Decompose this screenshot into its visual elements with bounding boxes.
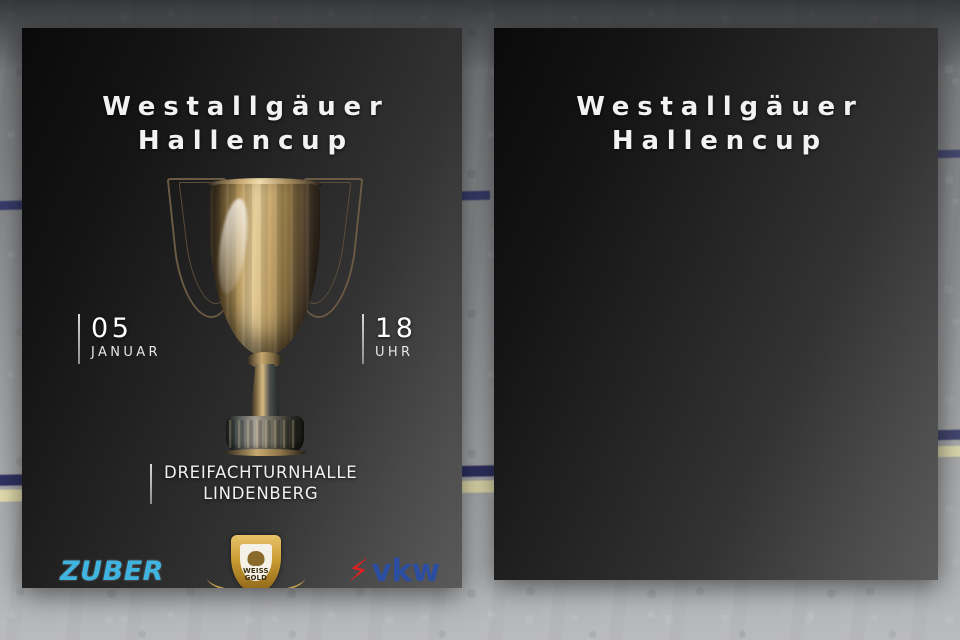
meckatzer-crest-text: WEISS GOLD (240, 568, 272, 583)
meckatzer-text-2: GOLD (245, 574, 268, 582)
time-unit: UHR (375, 343, 416, 363)
trophy-bowl (210, 184, 320, 356)
event-date: 05 JANUAR (78, 314, 161, 364)
venue-line-1: DREIFACHTURNHALLE (164, 463, 357, 484)
title-line-2: Hallencup (22, 124, 462, 158)
event-venue: DREIFACHTURNHALLE LINDENBERG (150, 464, 357, 504)
divider-bar (150, 464, 152, 504)
trophy-stem (250, 364, 280, 422)
divider-bar (78, 314, 80, 364)
meckatzer-crest: WEISS GOLD (231, 535, 281, 588)
poster-left[interactable]: Westallgäuer Hallencup 05 JANUAR 18 UHR (22, 28, 462, 588)
date-month: JANUAR (91, 343, 161, 363)
event-time: 18 UHR (362, 314, 416, 364)
poster-right[interactable]: Westallgäuer Hallencup FUSSBALLVEREIN RO… (494, 28, 938, 580)
lightning-bolt-icon: ⚡ (348, 556, 370, 587)
zuber-logo[interactable]: ZUBER (60, 556, 164, 587)
date-number: 05 (91, 315, 161, 343)
vkw-wordmark: vkw (371, 553, 440, 588)
meckatzer-crest-inner: WEISS GOLD (240, 544, 272, 581)
page-title: Westallgäuer Hallencup (494, 90, 938, 159)
trophy-base-band (224, 449, 306, 456)
lion-icon (247, 551, 264, 566)
page-title: Westallgäuer Hallencup (22, 90, 462, 159)
divider-bar (362, 314, 364, 364)
title-line-2: Hallencup (494, 124, 938, 158)
trophy-cup-icon (172, 166, 358, 458)
time-number: 18 (375, 315, 416, 343)
title-line-1: Westallgäuer (102, 92, 389, 122)
meckatzer-logo[interactable]: WEISS GOLD MECKATZER (205, 531, 307, 588)
vkw-logo[interactable]: ⚡ vkw (348, 553, 440, 588)
trophy-base-ribs (229, 420, 301, 448)
venue-line-2: LINDENBERG (164, 484, 357, 505)
sponsor-row: ZUBER WEISS GOLD MECKATZER ⚡ vkw (60, 530, 440, 588)
title-line-1: Westallgäuer (576, 92, 863, 122)
